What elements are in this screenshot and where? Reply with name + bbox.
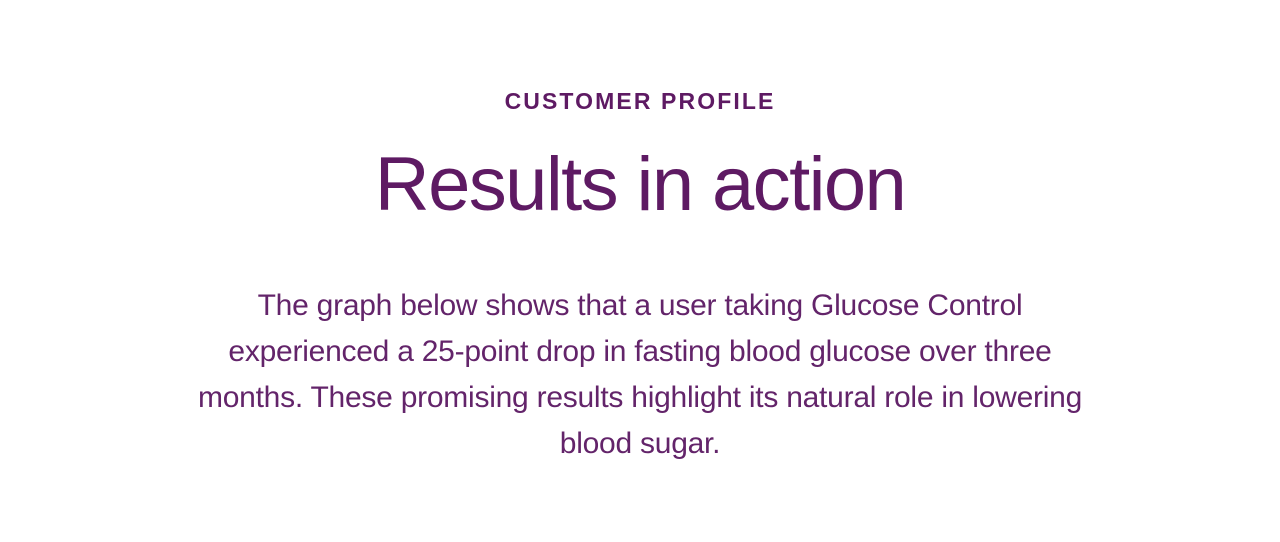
section-description: The graph below shows that a user taking…	[190, 283, 1090, 467]
customer-profile-section: CUSTOMER PROFILE Results in action The g…	[0, 0, 1280, 542]
section-eyebrow: CUSTOMER PROFILE	[0, 86, 1280, 116]
page-title: Results in action	[0, 139, 1280, 231]
